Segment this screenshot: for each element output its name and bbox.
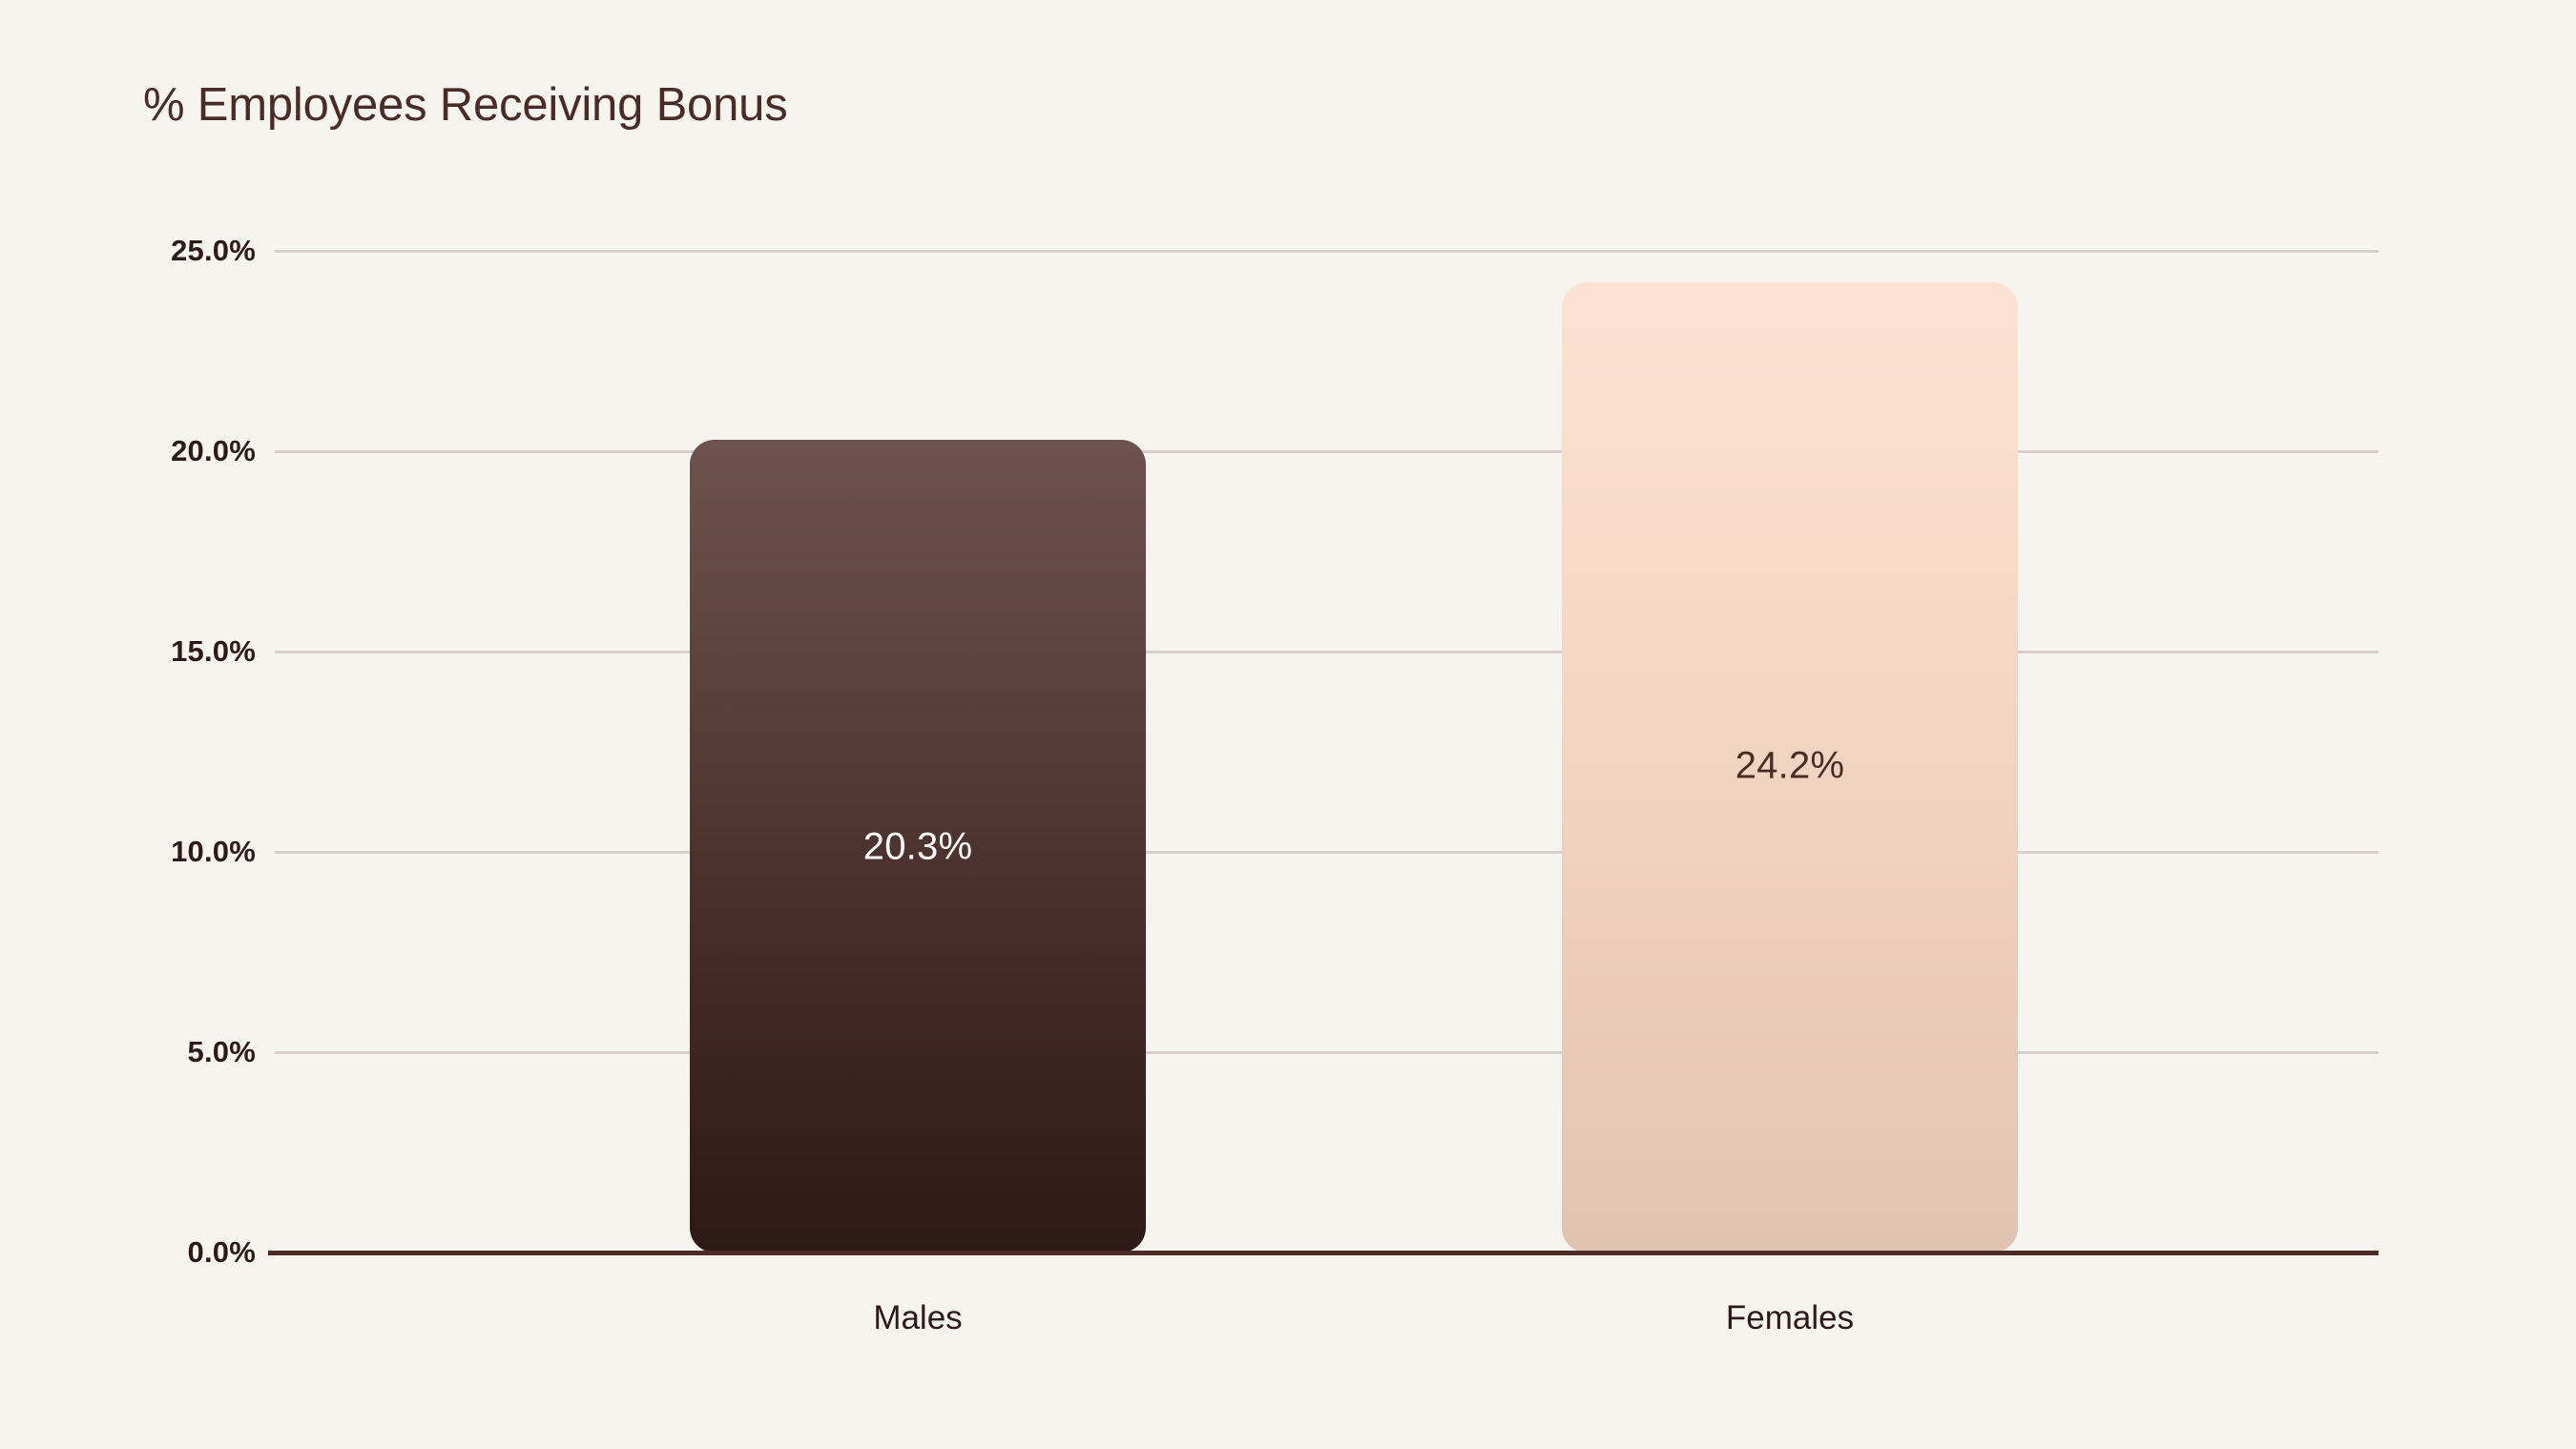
y-tick-label-10: 10.0% [171,835,256,869]
x-tick-label-males: Males [873,1299,962,1337]
y-tick-label-20: 20.0% [171,434,256,468]
y-tick-label-5: 5.0% [188,1035,256,1069]
x-tick-label-females: Females [1726,1299,1854,1337]
gridline-25 [275,250,2379,253]
gridline-15 [275,651,2379,653]
x-axis-baseline [268,1251,2379,1255]
y-tick-label-15: 15.0% [171,634,256,669]
gridline-5 [275,1051,2379,1054]
bar-chart-canvas: % Employees Receiving Bonus 25.0% 20.0% … [0,0,2576,1449]
plot-area: 25.0% 20.0% 15.0% 10.0% 5.0% 0.0% 20.3% … [0,0,2576,1449]
y-tick-label-0: 0.0% [188,1235,256,1270]
bar-value-label-females: 24.2% [1735,745,1844,788]
gridline-20 [275,450,2379,453]
y-tick-label-25: 25.0% [171,234,256,268]
gridline-10 [275,851,2379,854]
bar-value-label-males: 20.3% [863,826,972,869]
